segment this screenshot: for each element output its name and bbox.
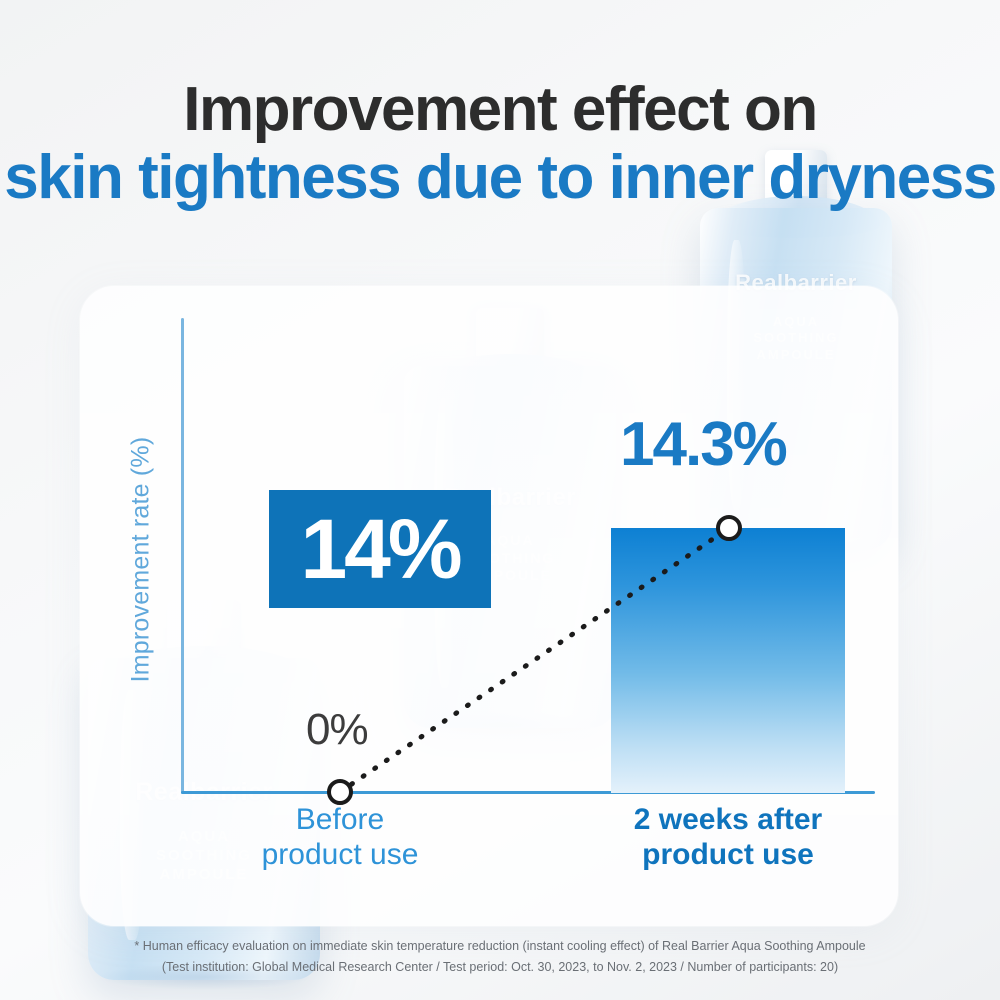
chart-point-marker-after [716,515,742,541]
footnote: * Human efficacy evaluation on immediate… [0,936,1000,979]
chart-x-label-after-line1: 2 weeks after [634,803,822,836]
improvement-badge-value: 14% [300,507,459,591]
chart-y-axis [181,318,184,794]
chart-value-label-before: 0% [306,705,368,755]
page-title: Improvement effect on skin tightness due… [0,78,1000,214]
footnote-line-2: (Test institution: Global Medical Resear… [0,957,1000,978]
chart-y-axis-label: Improvement rate (%) [127,410,156,710]
headline-line-1: Improvement effect on [0,78,1000,141]
headline-line-2: skin tightness due to inner dryness [0,141,1000,214]
improvement-badge: 14% [269,490,491,608]
chart-point-marker-before [327,779,353,805]
chart-x-label-before: Before product use [250,803,430,873]
chart-x-label-before-line2: product use [262,838,419,871]
footnote-line-1: * Human efficacy evaluation on immediate… [0,936,1000,957]
chart-bar-after [611,528,845,793]
chart-x-label-after: 2 weeks after product use [608,803,848,873]
chart-value-label-after: 14.3% [620,409,786,480]
chart-x-label-after-line2: product use [642,838,814,871]
chart-x-label-before-line1: Before [296,803,384,836]
